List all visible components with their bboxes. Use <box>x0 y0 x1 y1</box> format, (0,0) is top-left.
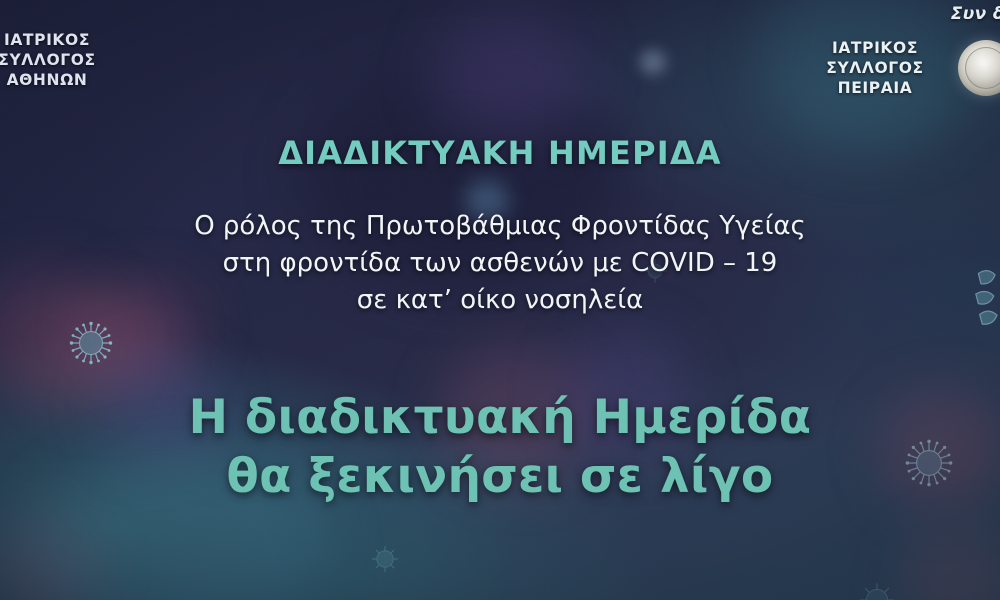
slide-canvas: ΙΑΤΡΙΚΟΣ ΣΥΛΛΟΓΟΣ ΑΘΗΝΩΝ Συν δι ΙΑΤΡΙΚΟΣ… <box>0 0 1000 600</box>
message-line-1: Η διαδικτυακή Ημερίδα <box>0 388 1000 447</box>
logo-right-text: ΙΑΤΡΙΚΟΣ ΣΥΛΛΟΓΟΣ ΠΕΙΡΑΙΑ <box>800 38 950 98</box>
subtitle-line-2: στη φροντίδα των ασθενών με COVID – 19 <box>0 245 1000 282</box>
co-organizer-label: Συν δι <box>951 4 1000 24</box>
logo-right-line1: ΙΑΤΡΙΚΟΣ <box>800 38 950 58</box>
event-headline: ΔΙΑΔΙΚΤΥΑΚΗ ΗΜΕΡΙΔΑ <box>0 134 1000 172</box>
logo-right-line2: ΣΥΛΛΟΓΟΣ <box>800 58 950 78</box>
logo-piraeus-medical-association: ΙΑΤΡΙΚΟΣ ΣΥΛΛΟΓΟΣ ΠΕΙΡΑΙΑ <box>800 38 1000 98</box>
waiting-message: Η διαδικτυακή Ημερίδα θα ξεκινήσει σε λί… <box>0 388 1000 506</box>
logo-athens-medical-association: ΙΑΤΡΙΚΟΣ ΣΥΛΛΟΓΟΣ ΑΘΗΝΩΝ <box>0 30 122 90</box>
subtitle-line-1: Ο ρόλος της Πρωτοβάθμιας Φροντίδας Υγεία… <box>0 208 1000 245</box>
logo-right-line3: ΠΕΙΡΑΙΑ <box>800 78 950 98</box>
logo-left-line1: ΙΑΤΡΙΚΟΣ <box>0 30 122 50</box>
seal-emblem-icon <box>958 40 1000 96</box>
event-subtitle: Ο ρόλος της Πρωτοβάθμιας Φροντίδας Υγεία… <box>0 208 1000 319</box>
message-line-2: θα ξεκινήσει σε λίγο <box>0 447 1000 506</box>
logo-left-line3: ΑΘΗΝΩΝ <box>0 70 122 90</box>
subtitle-line-3: σε κατ’ οίκο νοσηλεία <box>0 282 1000 319</box>
logo-left-line2: ΣΥΛΛΟΓΟΣ <box>0 50 122 70</box>
